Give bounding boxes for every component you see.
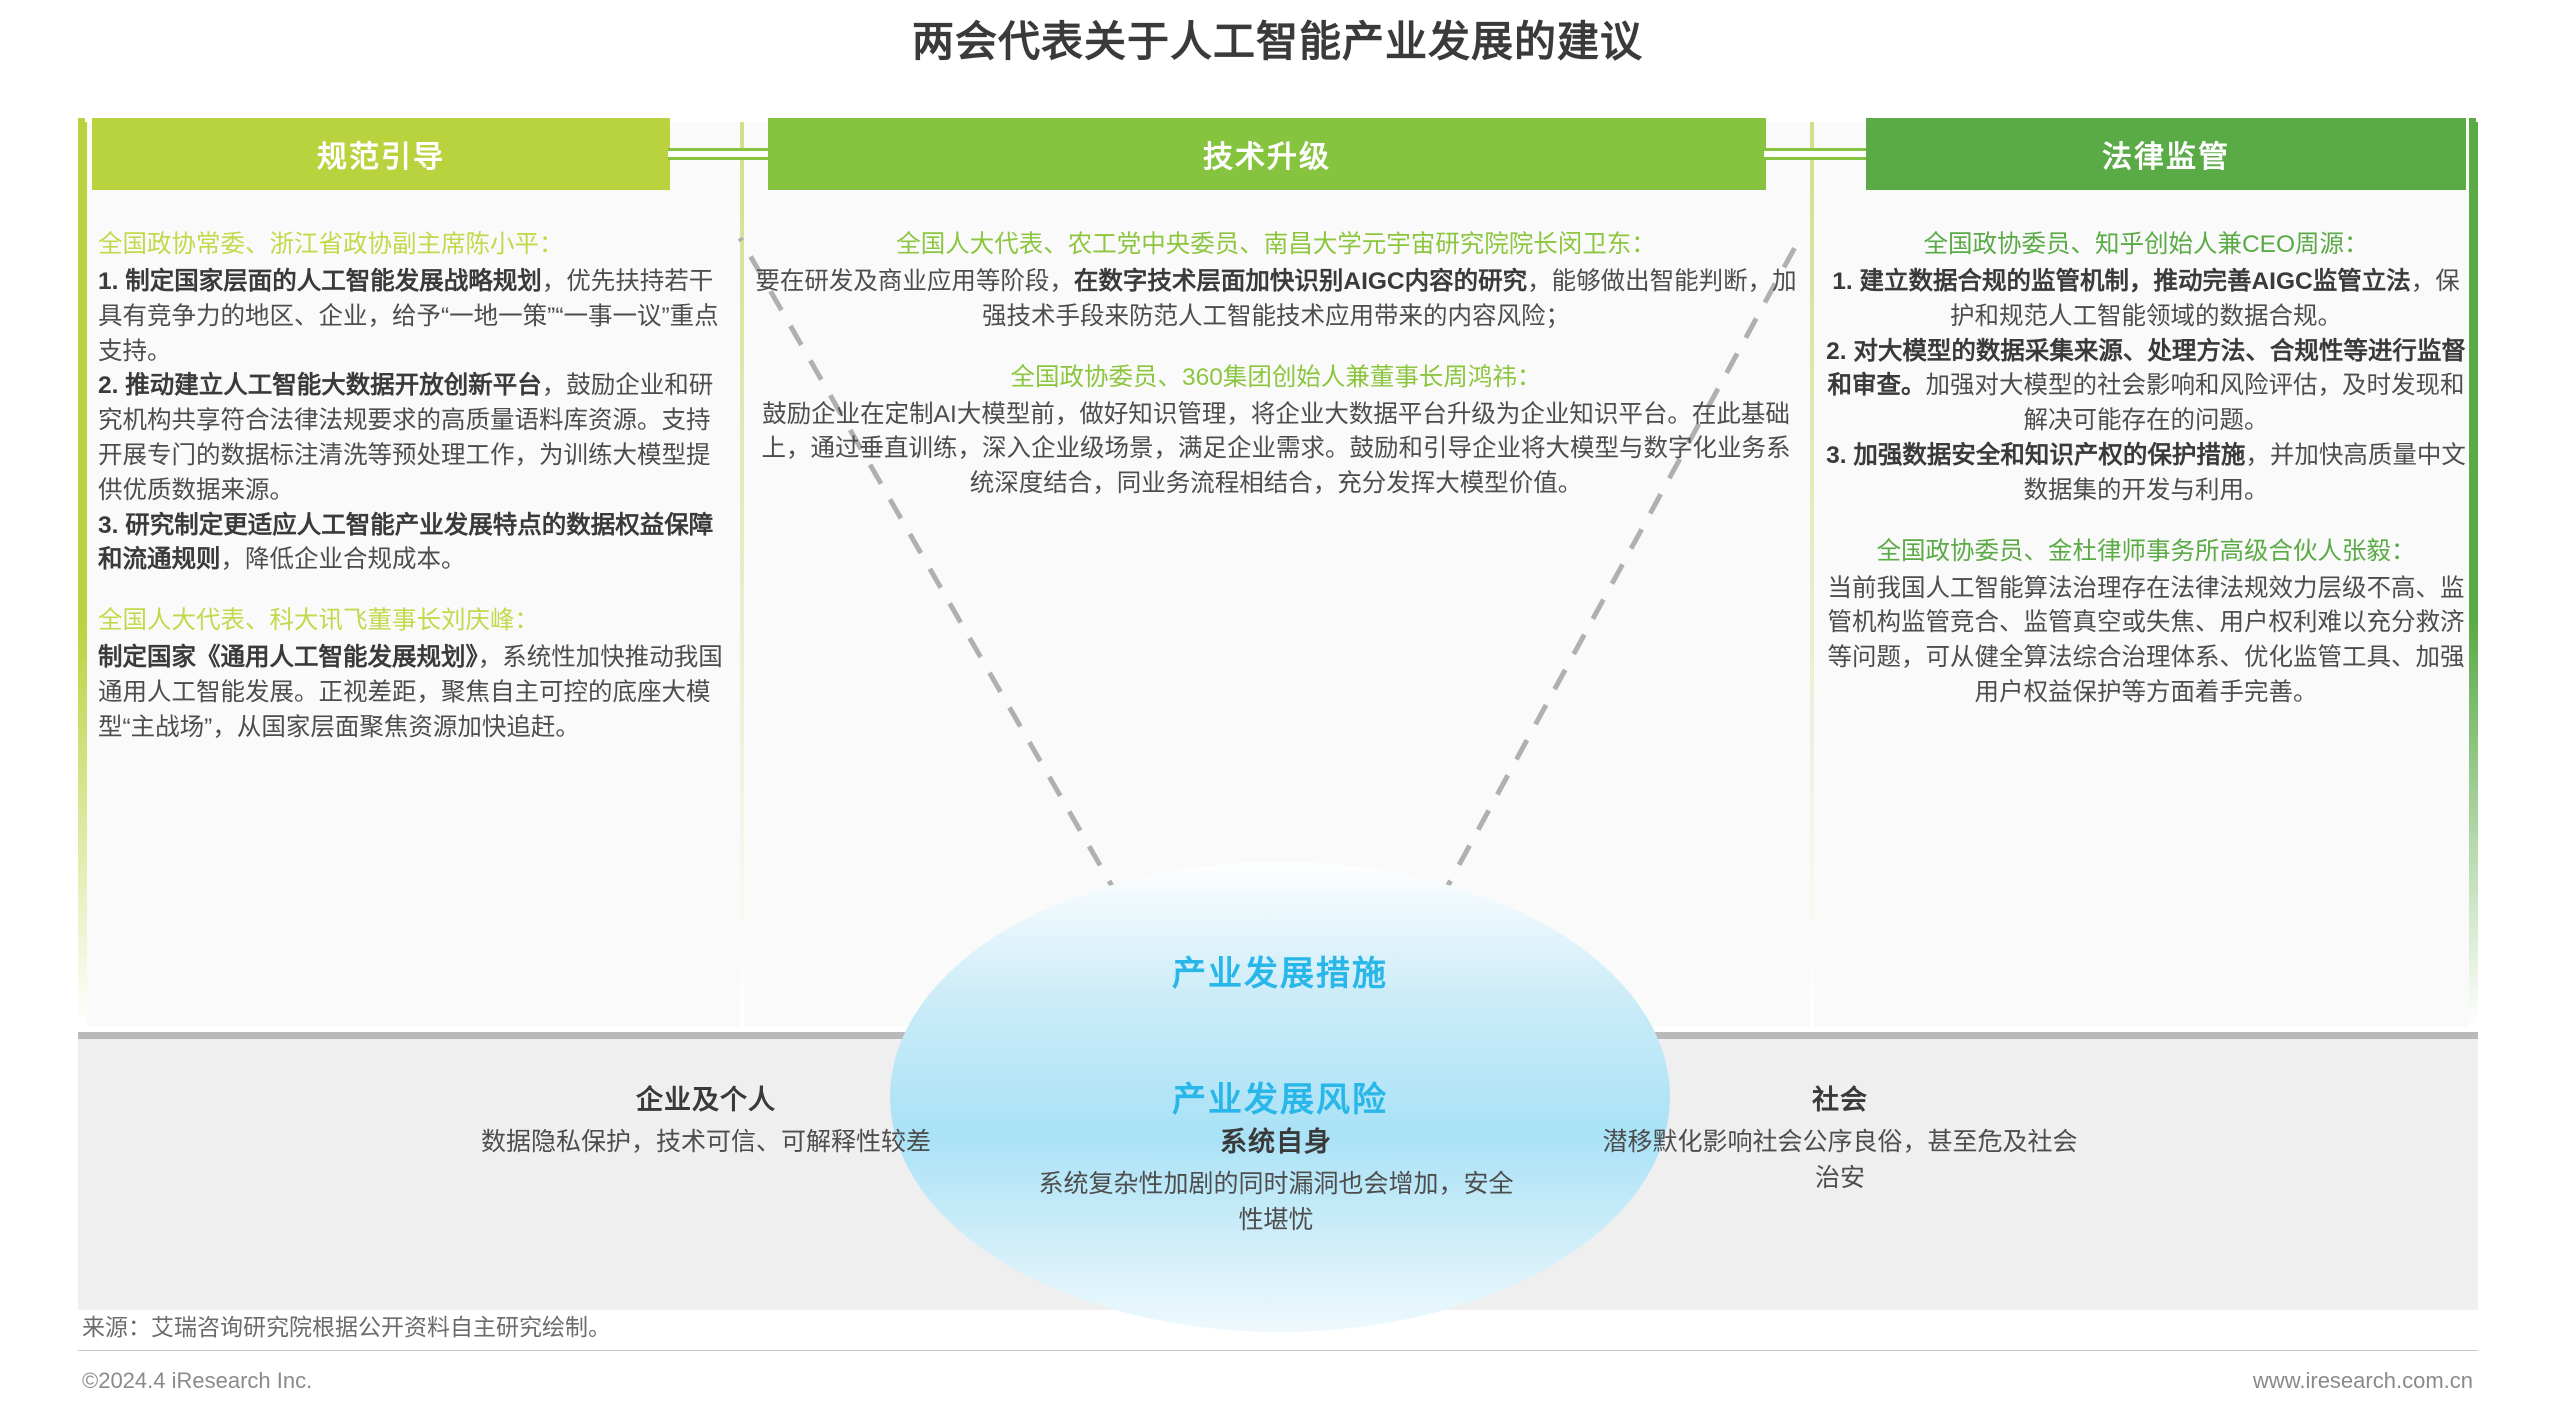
tab-technology-upgrade[interactable]: 技术升级 xyxy=(768,118,1766,190)
speaker-min-weidong: 全国人大代表、农工党中央委员、南昌大学元宇宙研究院院长闵卫东： xyxy=(752,228,1800,261)
risk-title: 系统自身 xyxy=(1036,1120,1516,1159)
block-gap xyxy=(1824,509,2468,535)
body-liu-qingfeng: 制定国家《通用人工智能发展规划》，系统性加快推动我国通用人工智能发展。正视差距，… xyxy=(98,641,728,745)
tab-connector-2 xyxy=(1764,148,1868,160)
body-min-weidong: 要在研发及商业应用等阶段，在数字技术层面加快识别AIGC内容的研究，能够做出智能… xyxy=(752,265,1800,335)
tab-regulation-guidance[interactable]: 规范引导 xyxy=(92,118,670,190)
body-zhou-hongyi: 鼓励企业在定制AI大模型前，做好知识管理，将企业大数据平台升级为企业知识平台。在… xyxy=(752,398,1800,502)
panel-divider-right xyxy=(1810,122,1814,1027)
risk-society: 社会 潜移默化影响社会公序良俗，甚至危及社会治安 xyxy=(1600,1078,2080,1196)
speaker-zhang-yi: 全国政协委员、金杜律师事务所高级合伙人张毅： xyxy=(1824,535,2468,568)
body-zhang-yi: 当前我国人工智能算法治理存在法律法规效力层级不高、监管机构监管竞合、监管真空或失… xyxy=(1824,572,2468,711)
block-gap xyxy=(98,578,728,604)
risk-body: 数据隐私保护，技术可信、可解释性较差 xyxy=(466,1125,946,1161)
column-legal-supervision: 全国政协委员、知乎创始人兼CEO周源： 1. 建立数据合规的监管机制，推动完善A… xyxy=(1824,228,2468,711)
risk-body: 潜移默化影响社会公序良俗，甚至危及社会治安 xyxy=(1600,1125,2080,1196)
infographic-page: 两会代表关于人工智能产业发展的建议 规范引导 技术升级 法律监管 全国政协常委、… xyxy=(0,0,2555,1417)
copyright-text: ©2024.4 iResearch Inc. xyxy=(82,1368,312,1394)
risk-body: 系统复杂性加剧的同时漏洞也会增加，安全性堪忧 xyxy=(1036,1167,1516,1238)
panel-edge-left xyxy=(78,122,87,1027)
tab-legal-supervision[interactable]: 法律监管 xyxy=(1866,118,2466,190)
source-note: 来源：艾瑞咨询研究院根据公开资料自主研究绘制。 xyxy=(82,1308,611,1342)
panel-edge-right xyxy=(2469,122,2478,1027)
tab-tick-left xyxy=(78,118,85,190)
footer-divider xyxy=(78,1350,2478,1351)
tab-connector-1 xyxy=(668,148,770,160)
risk-enterprise-individual: 企业及个人 数据隐私保护，技术可信、可解释性较差 xyxy=(466,1078,946,1161)
body-chen-xiaoping: 1. 制定国家层面的人工智能发展战略规划，优先扶持若干具有竞争力的地区、企业，给… xyxy=(98,265,728,578)
risk-system-itself: 系统自身 系统复杂性加剧的同时漏洞也会增加，安全性堪忧 xyxy=(1036,1078,1516,1238)
body-zhou-yuan: 1. 建立数据合规的监管机制，推动完善AIGC监管立法，保护和规范人工智能领域的… xyxy=(1824,265,2468,508)
column-regulation-guidance: 全国政协常委、浙江省政协副主席陈小平： 1. 制定国家层面的人工智能发展战略规划… xyxy=(98,228,728,746)
page-title: 两会代表关于人工智能产业发展的建议 xyxy=(0,8,2555,69)
speaker-chen-xiaoping: 全国政协常委、浙江省政协副主席陈小平： xyxy=(98,228,728,261)
speaker-zhou-hongyi: 全国政协委员、360集团创始人兼董事长周鸿祎： xyxy=(752,361,1800,394)
column-technology-upgrade: 全国人大代表、农工党中央委员、南昌大学元宇宙研究院院长闵卫东： 要在研发及商业应… xyxy=(752,228,1800,502)
label-industry-measures: 产业发展措施 xyxy=(890,946,1670,995)
website-link[interactable]: www.iresearch.com.cn xyxy=(2253,1368,2473,1394)
block-gap xyxy=(752,335,1800,361)
speaker-zhou-yuan: 全国政协委员、知乎创始人兼CEO周源： xyxy=(1824,228,2468,261)
risk-title: 企业及个人 xyxy=(466,1078,946,1117)
risk-title: 社会 xyxy=(1600,1078,2080,1117)
tab-tick-right xyxy=(2469,118,2476,190)
panel-divider-left xyxy=(740,122,744,1027)
speaker-liu-qingfeng: 全国人大代表、科大讯飞董事长刘庆峰： xyxy=(98,604,728,637)
